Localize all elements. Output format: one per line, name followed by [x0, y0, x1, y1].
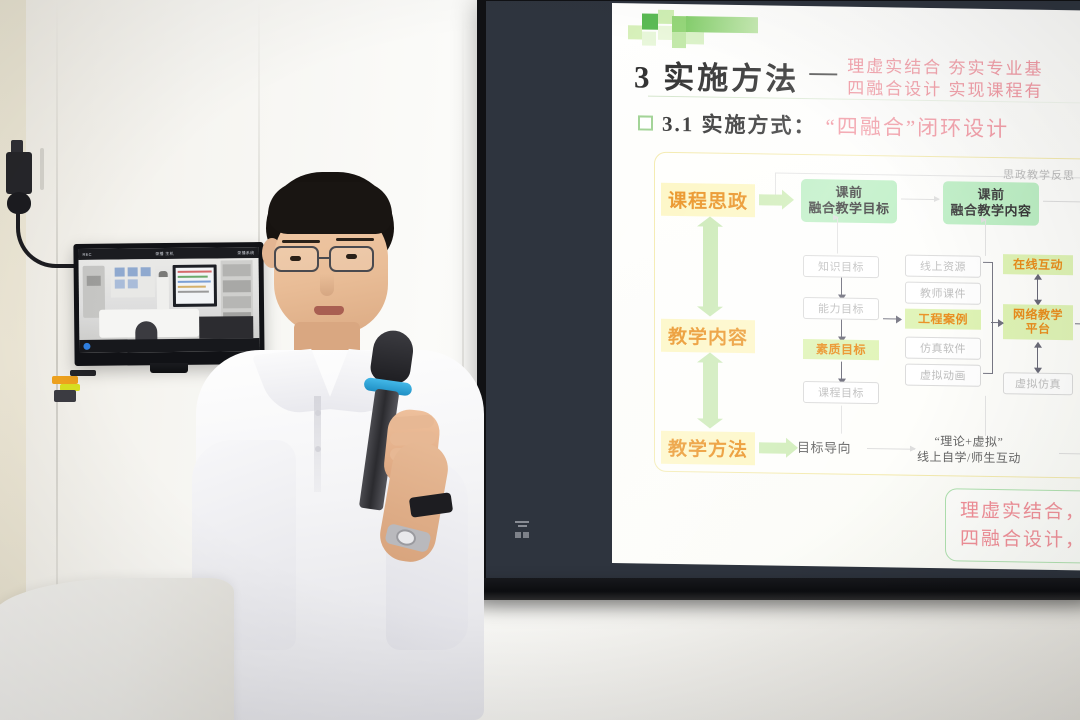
summary-line-1: 理虚实结合，夯实专业	[960, 497, 1080, 528]
presenter-brow-right	[336, 238, 374, 241]
goal-box-0: 知识目标	[803, 255, 879, 278]
goal-box-3: 课程目标	[803, 381, 879, 404]
display-screen: 3 实施方法 — 理虚实结合 夯实专业基 四融合设计 实现课程有 3.1 实施方…	[486, 1, 1080, 580]
bullet-square-icon	[638, 115, 653, 130]
platform-box-1-line2: 平台	[1025, 322, 1050, 336]
monitor-stand	[150, 363, 188, 373]
slide-subheading: 3.1 实施方式： “四融合”闭环设计	[638, 107, 1009, 143]
method-text-1-line2: 线上自学/师生互动	[917, 450, 1021, 466]
platform-box-0: 在线互动	[1003, 254, 1073, 275]
platform-arrow-1	[1037, 347, 1038, 369]
platform-to-outcome-arrow	[1075, 323, 1080, 325]
pillar-connector-1	[703, 361, 718, 419]
method-text-0: 目标导向	[797, 439, 851, 457]
cable-bundle	[52, 370, 96, 404]
menu-icon[interactable]	[515, 521, 529, 528]
presenter-button	[315, 446, 321, 452]
stage-box-0-line1: 课前	[835, 185, 862, 200]
resource-box-3: 仿真软件	[905, 337, 981, 360]
goal-arrow-2	[841, 362, 842, 380]
stage-arrow-0	[901, 199, 939, 201]
resource-box-2: 工程案例	[905, 309, 981, 331]
goal-box-1: 能力目标	[803, 297, 879, 320]
method-drop-1	[985, 396, 986, 436]
flow-diagram: 思政教学反思 课程思政 教学内容 教学方法 课前 融合教学目标	[654, 152, 1080, 481]
green-arrow-2	[759, 442, 787, 453]
method-drop-0	[841, 406, 842, 434]
stage-box-0-line2: 融合教学目标	[808, 200, 889, 216]
title-subtext-line1: 理虚实结合 夯实专业基	[847, 56, 1043, 80]
stage-box-1-line1: 课前	[977, 187, 1004, 202]
subhead-highlight: “四融合”闭环设计	[826, 110, 1010, 143]
stage-box-1-line2: 融合教学内容	[950, 203, 1031, 219]
presenter-eye-right	[346, 254, 357, 259]
pillar-connector-0	[703, 225, 718, 307]
platform-arrow-0	[1037, 279, 1038, 301]
presenter-button	[315, 410, 321, 416]
presenter-brow-left	[282, 240, 320, 243]
podium	[0, 578, 234, 720]
slide-decoration	[628, 9, 758, 57]
method-arrow-1	[1059, 453, 1080, 455]
stage-box-0: 课前 融合教学目标	[801, 179, 897, 223]
goal-arrow-1	[841, 320, 842, 338]
camera-body	[6, 152, 32, 194]
presenter-fringe	[268, 182, 392, 234]
resource-bracket	[983, 262, 993, 374]
wall-display[interactable]: 3 实施方法 — 理虚实结合 夯实专业基 四融合设计 实现课程有 3.1 实施方…	[477, 0, 1080, 592]
wall-vent	[40, 148, 44, 190]
title-dash: —	[809, 56, 837, 88]
summary-line-2: 四融合设计，实现课程	[960, 525, 1080, 556]
watch-face-icon	[394, 527, 417, 547]
slide-title: 3 实施方法	[634, 51, 799, 99]
feedback-line-down	[775, 173, 776, 197]
pillar-label-1: 教学内容	[661, 319, 755, 353]
display-controls[interactable]	[515, 521, 529, 538]
goal-arrow-0	[841, 278, 842, 296]
record-indicator-icon	[83, 343, 90, 350]
resource-box-0: 线上资源	[905, 255, 981, 278]
feedback-label: 思政教学反思	[1003, 166, 1075, 183]
resource-box-4: 虚拟动画	[905, 364, 981, 387]
method-arrow-0	[867, 448, 915, 450]
goal-box-2: 素质目标	[803, 339, 879, 361]
green-arrow-0	[759, 194, 783, 205]
subhead-number: 3.1 实施方式：	[662, 108, 817, 140]
monitor-tag-left: REC	[82, 252, 91, 257]
glasses-lens-right	[329, 246, 374, 272]
pillar-label-2: 教学方法	[661, 431, 755, 465]
presenter-nose	[320, 274, 334, 296]
monitor-tag-center: 录播 主机	[155, 250, 174, 256]
resource-to-platform-arrow	[991, 322, 1003, 324]
presentation-slide: 3 实施方法 — 理虚实结合 夯实专业基 四融合设计 实现课程有 3.1 实施方…	[612, 3, 1080, 572]
method-text-1-line1: “理论+虚拟”	[934, 434, 1003, 449]
summary-box: 理虚实结合，夯实专业 四融合设计，实现课程	[945, 488, 1080, 565]
platform-box-1-line1: 网络教学	[1013, 307, 1063, 322]
presenter	[190, 160, 490, 720]
classroom-scene: 3 实施方法 — 理虚实结合 夯实专业基 四融合设计 实现课程有 3.1 实施方…	[0, 0, 1080, 720]
glasses-bridge	[319, 257, 329, 259]
camera-lens-icon	[7, 192, 31, 214]
pillar-label-0: 课程思政	[661, 183, 755, 217]
source-icon[interactable]	[515, 532, 529, 538]
stage-arrow-1	[1043, 201, 1080, 203]
platform-box-1: 网络教学 平台	[1003, 304, 1073, 340]
stage-drop-1	[985, 220, 986, 256]
platform-box-2: 虚拟仿真	[1003, 372, 1073, 395]
goal-to-resource-arrow	[883, 318, 901, 320]
stage-drop-0	[837, 218, 838, 254]
presenter-mouth	[314, 306, 344, 315]
stage-box-1: 课前 融合教学内容	[943, 181, 1039, 225]
display-base	[470, 578, 1080, 600]
resource-box-1: 教师课件	[905, 282, 981, 305]
method-text-1: “理论+虚拟” 线上自学/师生互动	[917, 433, 1021, 467]
presenter-eye-left	[290, 256, 301, 261]
